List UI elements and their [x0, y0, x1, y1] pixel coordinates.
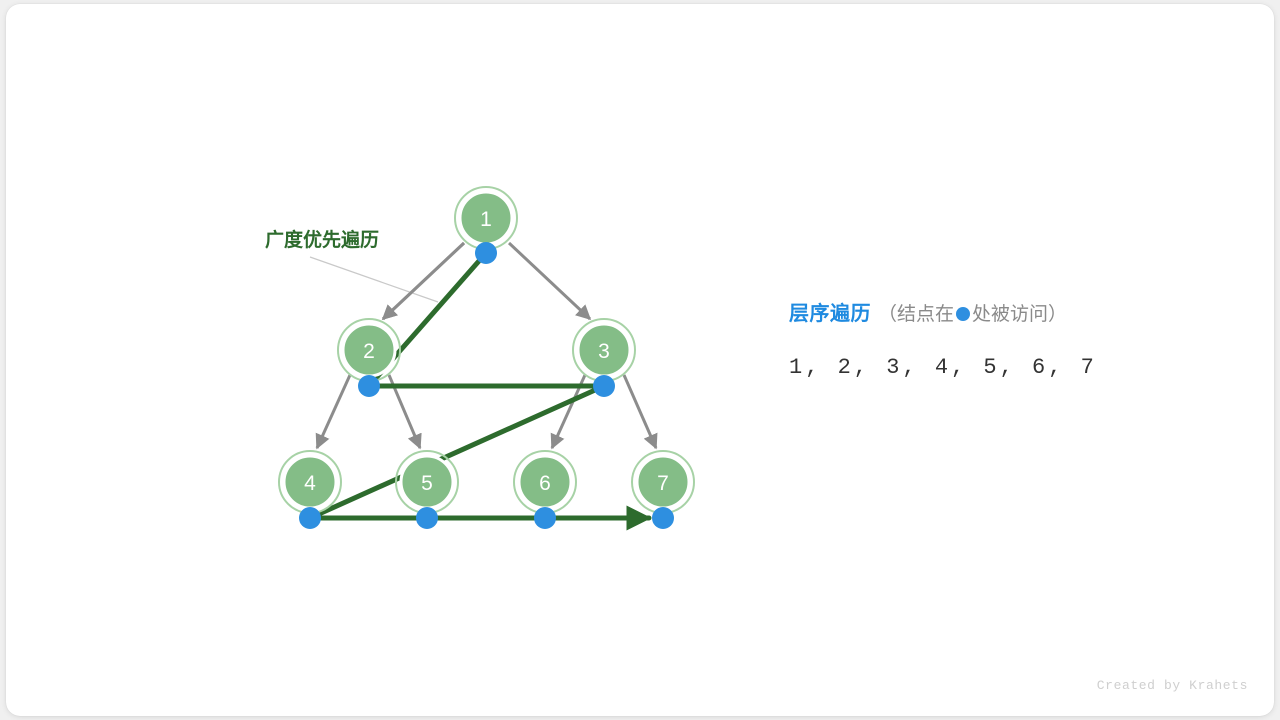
footer-credit: Created by Krahets — [1097, 678, 1248, 693]
visit-dot — [475, 242, 497, 264]
node-label: 7 — [657, 472, 669, 495]
node-label: 2 — [363, 340, 375, 363]
panel-heading: 层序遍历（结点在处被访问） — [789, 304, 1229, 324]
node-label: 5 — [421, 472, 433, 495]
visit-dot-icon — [956, 307, 970, 321]
annotation-leader-line — [310, 257, 438, 302]
visit-dot — [593, 375, 615, 397]
visit-dot — [534, 507, 556, 529]
visit-dot — [652, 507, 674, 529]
overlay-leader-arrow — [383, 243, 464, 319]
tree-edge-3-7 — [624, 375, 656, 448]
visit-dot — [358, 375, 380, 397]
panel-heading-note-suffix: 处被访问） — [972, 304, 1067, 325]
node-label: 4 — [304, 472, 316, 495]
traversal-sequence: 1, 2, 3, 4, 5, 6, 7 — [789, 355, 1229, 380]
panel-heading-title: 层序遍历 — [789, 303, 871, 325]
node-label: 6 — [539, 472, 551, 495]
bfs-label-text: 广度优先遍历 — [265, 228, 379, 251]
visit-dot — [416, 507, 438, 529]
tree-edge-1-3 — [509, 243, 590, 319]
tree-node-1[interactable]: 1 — [455, 187, 517, 264]
slide-card: 1 2 3 4 5 — [6, 4, 1274, 716]
tree-edge-1-2-overlay — [383, 243, 464, 319]
visit-dot — [299, 507, 321, 529]
panel-heading-note-prefix: （结点在 — [878, 304, 954, 325]
legend-panel: 层序遍历（结点在处被访问） 1, 2, 3, 4, 5, 6, 7 — [789, 304, 1229, 380]
node-label: 1 — [480, 208, 492, 231]
node-label: 3 — [598, 340, 610, 363]
tree-edge-2-4 — [317, 375, 350, 448]
